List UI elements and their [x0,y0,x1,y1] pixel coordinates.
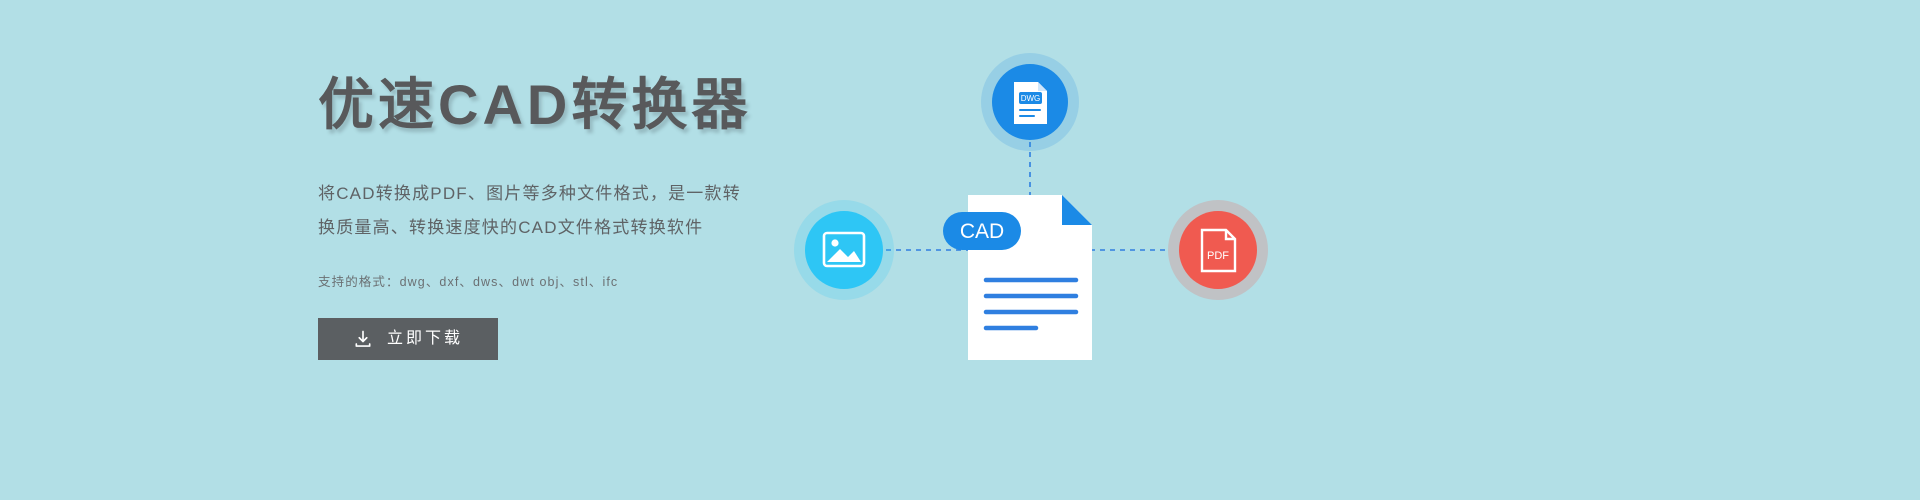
download-icon [353,329,373,349]
dwg-file-icon: DWG [1014,82,1047,124]
svg-text:DWG: DWG [1021,94,1041,103]
conversion-illustration: CAD DWG [790,40,1310,380]
supported-formats-label: 支持的格式：dwg、dxf、dws、dwt obj、stl、ifc [318,271,838,290]
svg-text:PDF: PDF [1207,250,1229,262]
pdf-node: PDF [1168,200,1268,300]
description-line-1: 将CAD转换成PDF、图片等多种文件格式，是一款转 [318,177,838,211]
hero-copy: 优速CAD转换器 将CAD转换成PDF、图片等多种文件格式，是一款转 换质量高、… [318,76,838,360]
description-line-2: 换质量高、转换速度快的CAD文件格式转换软件 [318,211,838,245]
hero-description: 将CAD转换成PDF、图片等多种文件格式，是一款转 换质量高、转换速度快的CAD… [318,177,838,245]
dwg-node: DWG [981,53,1079,151]
download-button-label: 立即下载 [387,331,463,347]
download-button[interactable]: 立即下载 [318,318,498,360]
hero-banner: 优速CAD转换器 将CAD转换成PDF、图片等多种文件格式，是一款转 换质量高、… [0,0,1920,500]
cad-badge: CAD [943,212,1021,250]
svg-text:CAD: CAD [960,220,1004,243]
image-node [794,200,894,300]
page-title: 优速CAD转换器 [318,76,838,135]
